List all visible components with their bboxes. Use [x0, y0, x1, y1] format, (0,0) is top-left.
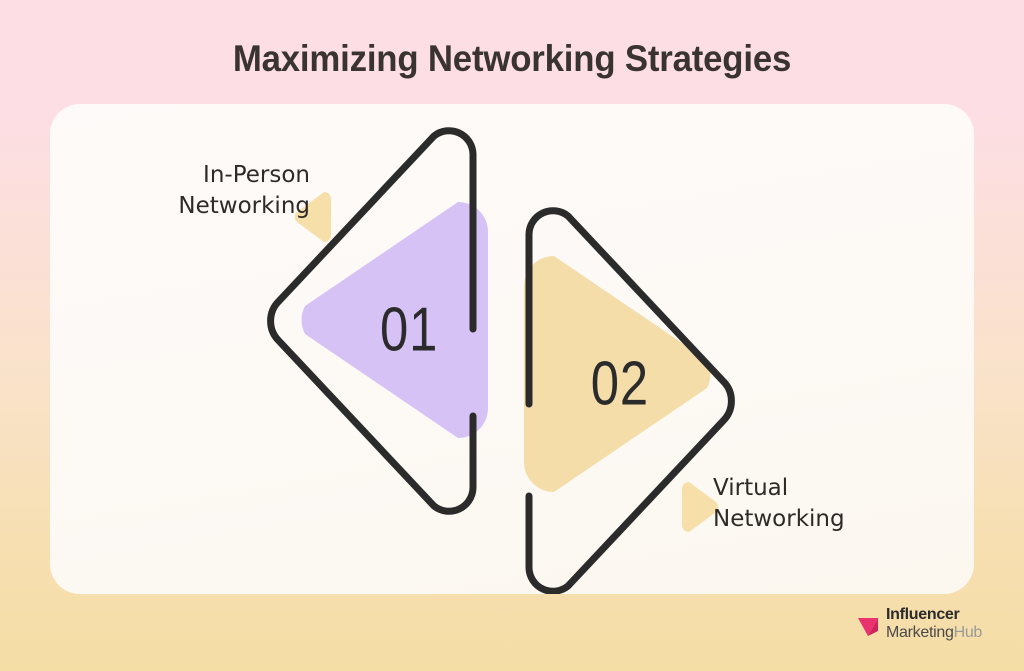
logo-name-second-line: MarketingHub: [886, 624, 982, 642]
step-02-number: 02: [591, 350, 649, 419]
step-02-label-line2: Networking: [713, 504, 913, 535]
step-02-label-line1: Virtual: [713, 473, 913, 504]
step-01-label: In-Person Networking: [140, 160, 310, 221]
brand-logo: Influencer MarketingHub: [856, 606, 996, 648]
infographic-canvas: Maximizing Networking Strategies 01 02 I…: [0, 0, 1024, 671]
page-title: Maximizing Networking Strategies: [31, 38, 994, 80]
logo-name-regular: Marketing: [886, 624, 954, 641]
step-01-label-line2: Networking: [140, 191, 310, 222]
logo-wordmark: Influencer MarketingHub: [886, 606, 982, 642]
logo-arrow-icon: [856, 612, 886, 642]
step-01-number: 01: [380, 296, 438, 365]
logo-name-bold: Influencer: [886, 606, 982, 624]
step-02-label: Virtual Networking: [713, 473, 913, 534]
step-01-label-line1: In-Person: [140, 160, 310, 191]
logo-name-light: Hub: [954, 624, 982, 641]
